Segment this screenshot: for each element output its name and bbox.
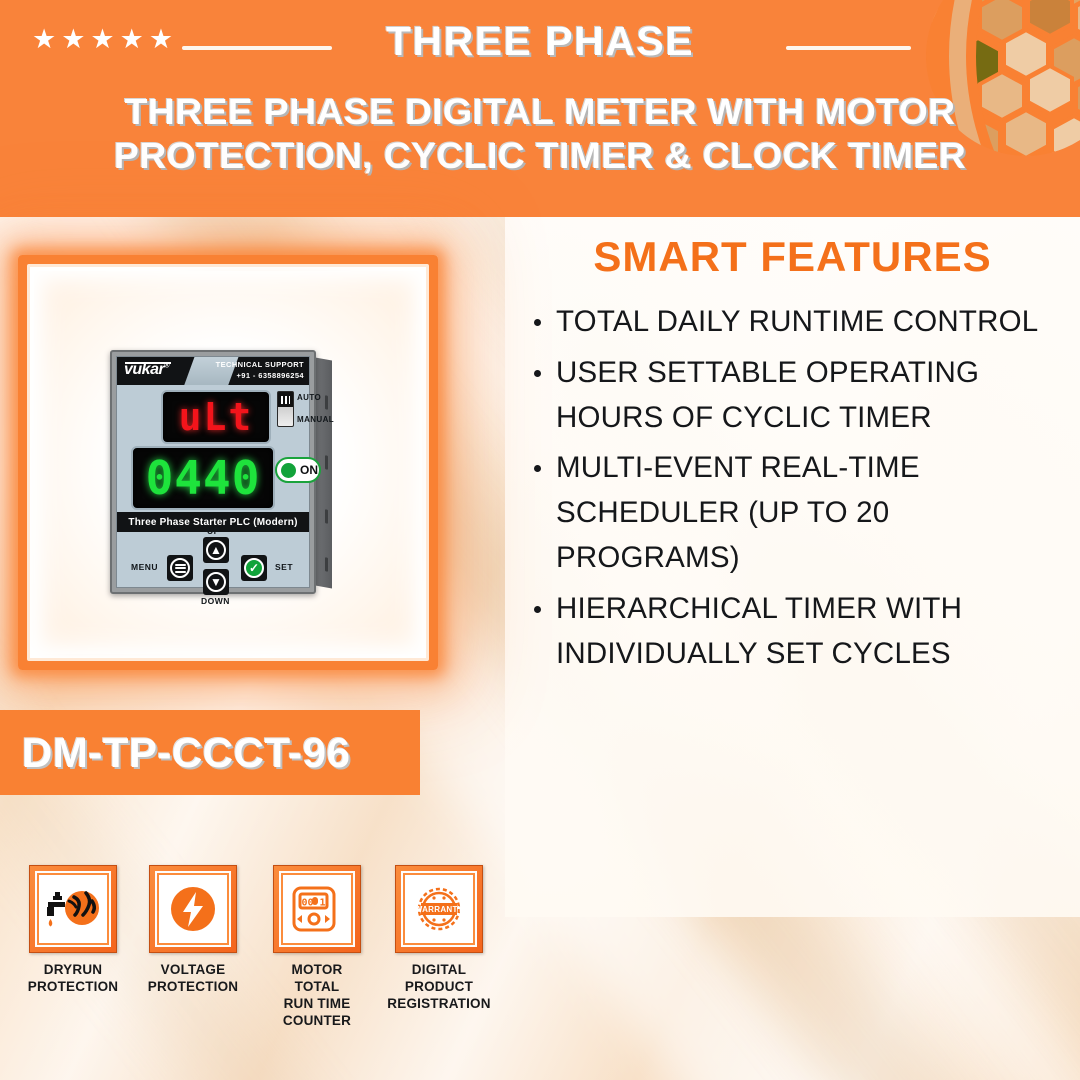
technical-support-block: TECHNICAL SUPPORT +91 - 6358896254	[216, 360, 304, 382]
menu-button[interactable]	[167, 555, 193, 581]
down-button-label: DOWN	[201, 596, 230, 606]
badge-label: DIGITALPRODUCTREGISTRATION	[380, 962, 498, 1013]
badge-icon-frame	[149, 865, 237, 953]
warranty-badge-icon: WARRANTY	[411, 883, 467, 935]
down-button[interactable]: ▼	[203, 569, 229, 595]
feature-item: USER SETTABLE OPERATING HOURS OF CYCLIC …	[528, 351, 1063, 441]
badge-label: VOLTAGEPROTECTION	[134, 962, 252, 996]
feature-item: TOTAL DAILY RUNTIME CONTROL	[528, 300, 1063, 345]
support-phone: +91 - 6358896254	[216, 371, 304, 382]
status-on-label: ON	[300, 463, 318, 477]
header-kicker: THREE PHASE	[0, 18, 1080, 65]
badge-icon-frame	[29, 865, 117, 953]
badge-icon-frame: 00 1	[273, 865, 361, 953]
poster-canvas: ★★★★★ THREE PHASE THREE PHASE DIGITAL ME…	[0, 0, 1080, 1080]
counter-meter-icon: 00 1	[288, 883, 346, 935]
features-list: TOTAL DAILY RUNTIME CONTROL USER SETTABL…	[528, 300, 1063, 683]
device-body: vukar® TECHNICAL SUPPORT +91 - 635889625…	[110, 350, 316, 594]
status-led-icon	[281, 463, 296, 478]
chevron-up-icon: ▲	[206, 540, 226, 560]
badge-run-time-counter: 00 1 MOTORTOTALRUN TIMECOUNTER	[258, 865, 376, 1030]
display-bottom: 0440	[131, 446, 275, 510]
manual-label: MANUAL	[297, 415, 334, 424]
lightning-bolt-icon	[167, 883, 219, 935]
product-device-image: vukar® TECHNICAL SUPPORT +91 - 635889625…	[110, 350, 360, 595]
header-title: THREE PHASE DIGITAL METER WITH MOTOR PRO…	[41, 90, 1039, 178]
display-bottom-value: 0440	[133, 448, 273, 508]
features-heading: SMART FEATURES	[505, 233, 1080, 281]
check-icon: ✓	[244, 558, 264, 578]
badge-dryrun-protection: DRYRUNPROTECTION	[14, 865, 132, 996]
badge-product-registration: WARRANTY DIGITALPRODUCTREGISTRATION	[380, 865, 498, 1013]
badge-label: DRYRUNPROTECTION	[14, 962, 132, 996]
chevron-down-icon: ▼	[206, 572, 226, 592]
set-button-label: SET	[275, 562, 293, 572]
menu-button-label: MENU	[131, 562, 158, 572]
device-button-row: ▲ ▼ ✓ MENU UP DOWN SET	[117, 535, 309, 595]
badge-label: MOTORTOTALRUN TIMECOUNTER	[258, 962, 376, 1030]
vukar-logo: vukar®	[124, 361, 169, 379]
status-on-indicator: ON	[275, 457, 321, 483]
tap-globe-icon	[44, 883, 102, 935]
up-button[interactable]: ▲	[203, 537, 229, 563]
model-code-text: DM-TP-CCCT-96	[0, 729, 351, 777]
device-faceplate: vukar® TECHNICAL SUPPORT +91 - 635889625…	[116, 356, 310, 588]
feature-item: MULTI-EVENT REAL-TIME SCHEDULER (UP TO 2…	[528, 446, 1063, 580]
menu-icon	[170, 558, 190, 578]
badge-voltage-protection: VOLTAGEPROTECTION	[134, 865, 252, 996]
support-label: TECHNICAL SUPPORT	[216, 360, 304, 371]
device-top-bar: vukar® TECHNICAL SUPPORT +91 - 635889625…	[117, 357, 309, 385]
badge-icon-frame: WARRANTY	[395, 865, 483, 953]
model-code-banner: DM-TP-CCCT-96	[0, 710, 420, 795]
svg-text:WARRANTY: WARRANTY	[415, 905, 464, 914]
up-button-label: UP	[207, 526, 220, 536]
feature-item: HIERARCHICAL TIMER WITH INDIVIDUALLY SET…	[528, 587, 1063, 677]
auto-manual-switch[interactable]	[277, 391, 294, 427]
display-top-value: uLt	[163, 392, 269, 442]
display-top: uLt	[161, 390, 271, 444]
header-banner: ★★★★★ THREE PHASE THREE PHASE DIGITAL ME…	[0, 0, 1080, 217]
auto-label: AUTO	[297, 393, 321, 402]
set-button[interactable]: ✓	[241, 555, 267, 581]
svg-text:00 1: 00 1	[301, 898, 325, 909]
